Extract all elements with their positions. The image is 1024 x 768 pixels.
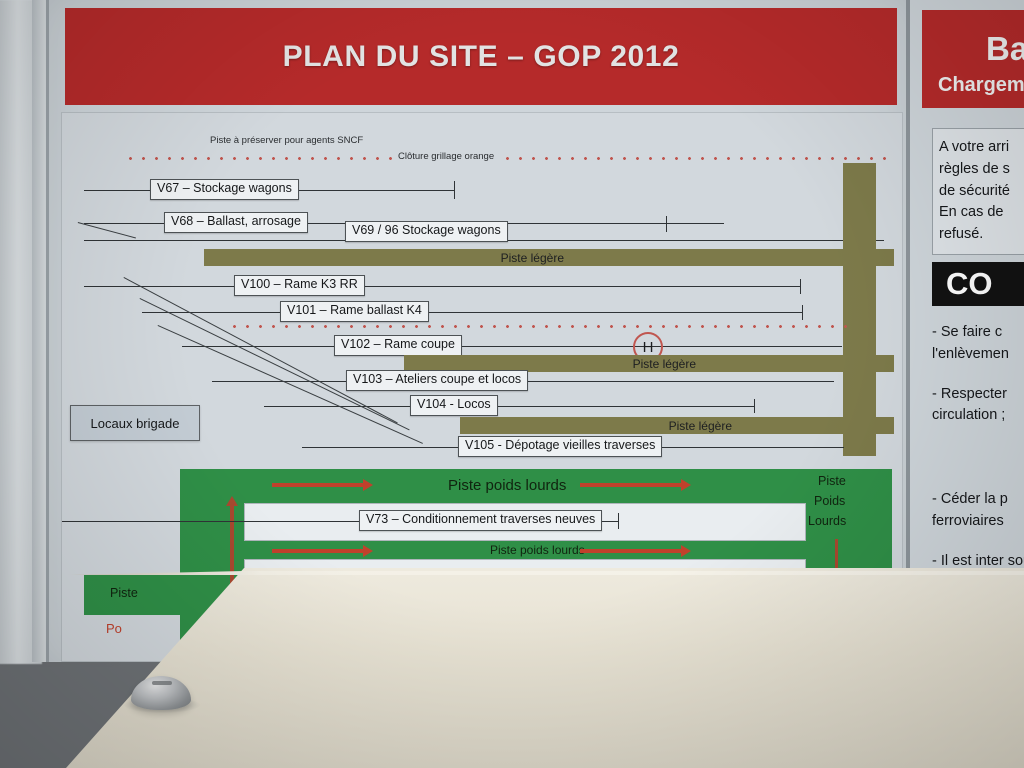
track-label-v104[interactable]: V104 - Locos bbox=[410, 395, 498, 416]
track-end-tick-v67 bbox=[454, 181, 455, 199]
track-label-v105[interactable]: V105 - Dépotage vieilles traverses bbox=[458, 436, 662, 457]
track-label-v69[interactable]: V69 / 96 Stockage wagons bbox=[345, 221, 508, 242]
safety-rule-2: - Respecter circulation ; bbox=[932, 384, 1024, 428]
safety-intro-line-3: de sécurité bbox=[939, 181, 1024, 203]
photo-scene: PLAN DU SITE – GOP 2012 Piste à préserve… bbox=[0, 0, 1024, 768]
dome-fastener-slot bbox=[152, 681, 172, 685]
track-label-v101[interactable]: V101 – Rame ballast K4 bbox=[280, 301, 429, 322]
piste-poids-lourds-side-line-1: Piste bbox=[818, 474, 846, 488]
flow-arrow-top-right bbox=[580, 483, 682, 487]
piste-legere-band-1: Piste légère bbox=[204, 249, 894, 266]
track-end-tick-v100 bbox=[800, 279, 801, 294]
track-label-v102[interactable]: V102 – Rame coupe bbox=[334, 335, 462, 356]
piste-bottom-label: Piste bbox=[110, 586, 138, 600]
piste-poids-lourds-side-line-2: Poids bbox=[814, 494, 845, 508]
safety-header-line-2: Chargem bbox=[938, 74, 1024, 97]
piste-poids-lourds-label-mid: Piste poids lourds bbox=[490, 543, 585, 557]
flow-arrow-mid-right bbox=[580, 549, 682, 553]
piste-poids-lourds-side-line-3: Lourds bbox=[808, 514, 846, 528]
track-end-tick-v73 bbox=[618, 513, 619, 529]
junction-line-a bbox=[78, 222, 136, 238]
track-end-tick-v101 bbox=[802, 305, 803, 320]
piste-poids-lourds-label-top: Piste poids lourds bbox=[448, 477, 566, 494]
piste-legere-label-3: Piste légère bbox=[669, 419, 732, 433]
track-label-v68[interactable]: V68 – Ballast, arrosage bbox=[164, 212, 308, 233]
track-line-v100 bbox=[84, 286, 800, 287]
piste-bottom-red-label: Po bbox=[106, 621, 122, 636]
fence-dotted-line-mid bbox=[228, 325, 848, 328]
track-label-v100[interactable]: V100 – Rame K3 RR bbox=[234, 275, 365, 296]
flow-arrow-mid-left bbox=[272, 549, 364, 553]
safety-black-banner: CO bbox=[932, 262, 1024, 306]
track-label-v73[interactable]: V73 – Conditionnement traverses neuves bbox=[359, 510, 602, 531]
safety-intro-line-4: En cas de bbox=[939, 202, 1024, 224]
track-line-v102 bbox=[182, 346, 842, 347]
piste-poids-lourds-bottom-box: Piste bbox=[84, 575, 204, 615]
track-label-v103[interactable]: V103 – Ateliers coupe et locos bbox=[346, 370, 528, 391]
track-label-v67[interactable]: V67 – Stockage wagons bbox=[150, 179, 299, 200]
track-line-v101 bbox=[142, 312, 802, 313]
note-preserve-track: Piste à préserver pour agents SNCF bbox=[210, 135, 363, 146]
safety-instructions-signboard: Ba Chargem A votre arri règles de s de s… bbox=[906, 0, 1024, 592]
safety-intro-text: A votre arri règles de s de sécurité En … bbox=[932, 128, 1024, 255]
track-end-tick-v68 bbox=[666, 216, 667, 232]
safety-sign-header: Ba Chargem bbox=[922, 10, 1024, 108]
safety-intro-line-2: règles de s bbox=[939, 159, 1024, 181]
flow-arrow-top-left bbox=[272, 483, 364, 487]
safety-intro-line-1: A votre arri bbox=[939, 137, 1024, 159]
safety-header-line-1: Ba bbox=[986, 30, 1024, 68]
safety-rule-1: - Se faire c l'enlèvemen bbox=[932, 322, 1024, 366]
safety-intro-line-5: refusé. bbox=[939, 224, 1024, 246]
signboard-header: PLAN DU SITE – GOP 2012 bbox=[65, 8, 897, 105]
locaux-brigade-box[interactable]: Locaux brigade bbox=[70, 405, 200, 441]
page-title: PLAN DU SITE – GOP 2012 bbox=[283, 40, 680, 74]
piste-legere-vertical-band bbox=[843, 163, 876, 456]
fence-dotted-line-top bbox=[124, 157, 894, 160]
piste-legere-label-1: Piste légère bbox=[501, 251, 564, 265]
note-fence: Clôture grillage orange bbox=[395, 151, 497, 162]
safety-rule-3: - Céder la p ferroviaires bbox=[932, 489, 1024, 533]
safety-rules-gap bbox=[932, 445, 1024, 471]
track-end-tick-v104 bbox=[754, 399, 755, 413]
piste-legere-label-2: Piste légère bbox=[633, 357, 696, 371]
site-plan-signboard: PLAN DU SITE – GOP 2012 Piste à préserve… bbox=[46, 0, 912, 662]
piste-legere-band-3: Piste légère bbox=[460, 417, 894, 434]
